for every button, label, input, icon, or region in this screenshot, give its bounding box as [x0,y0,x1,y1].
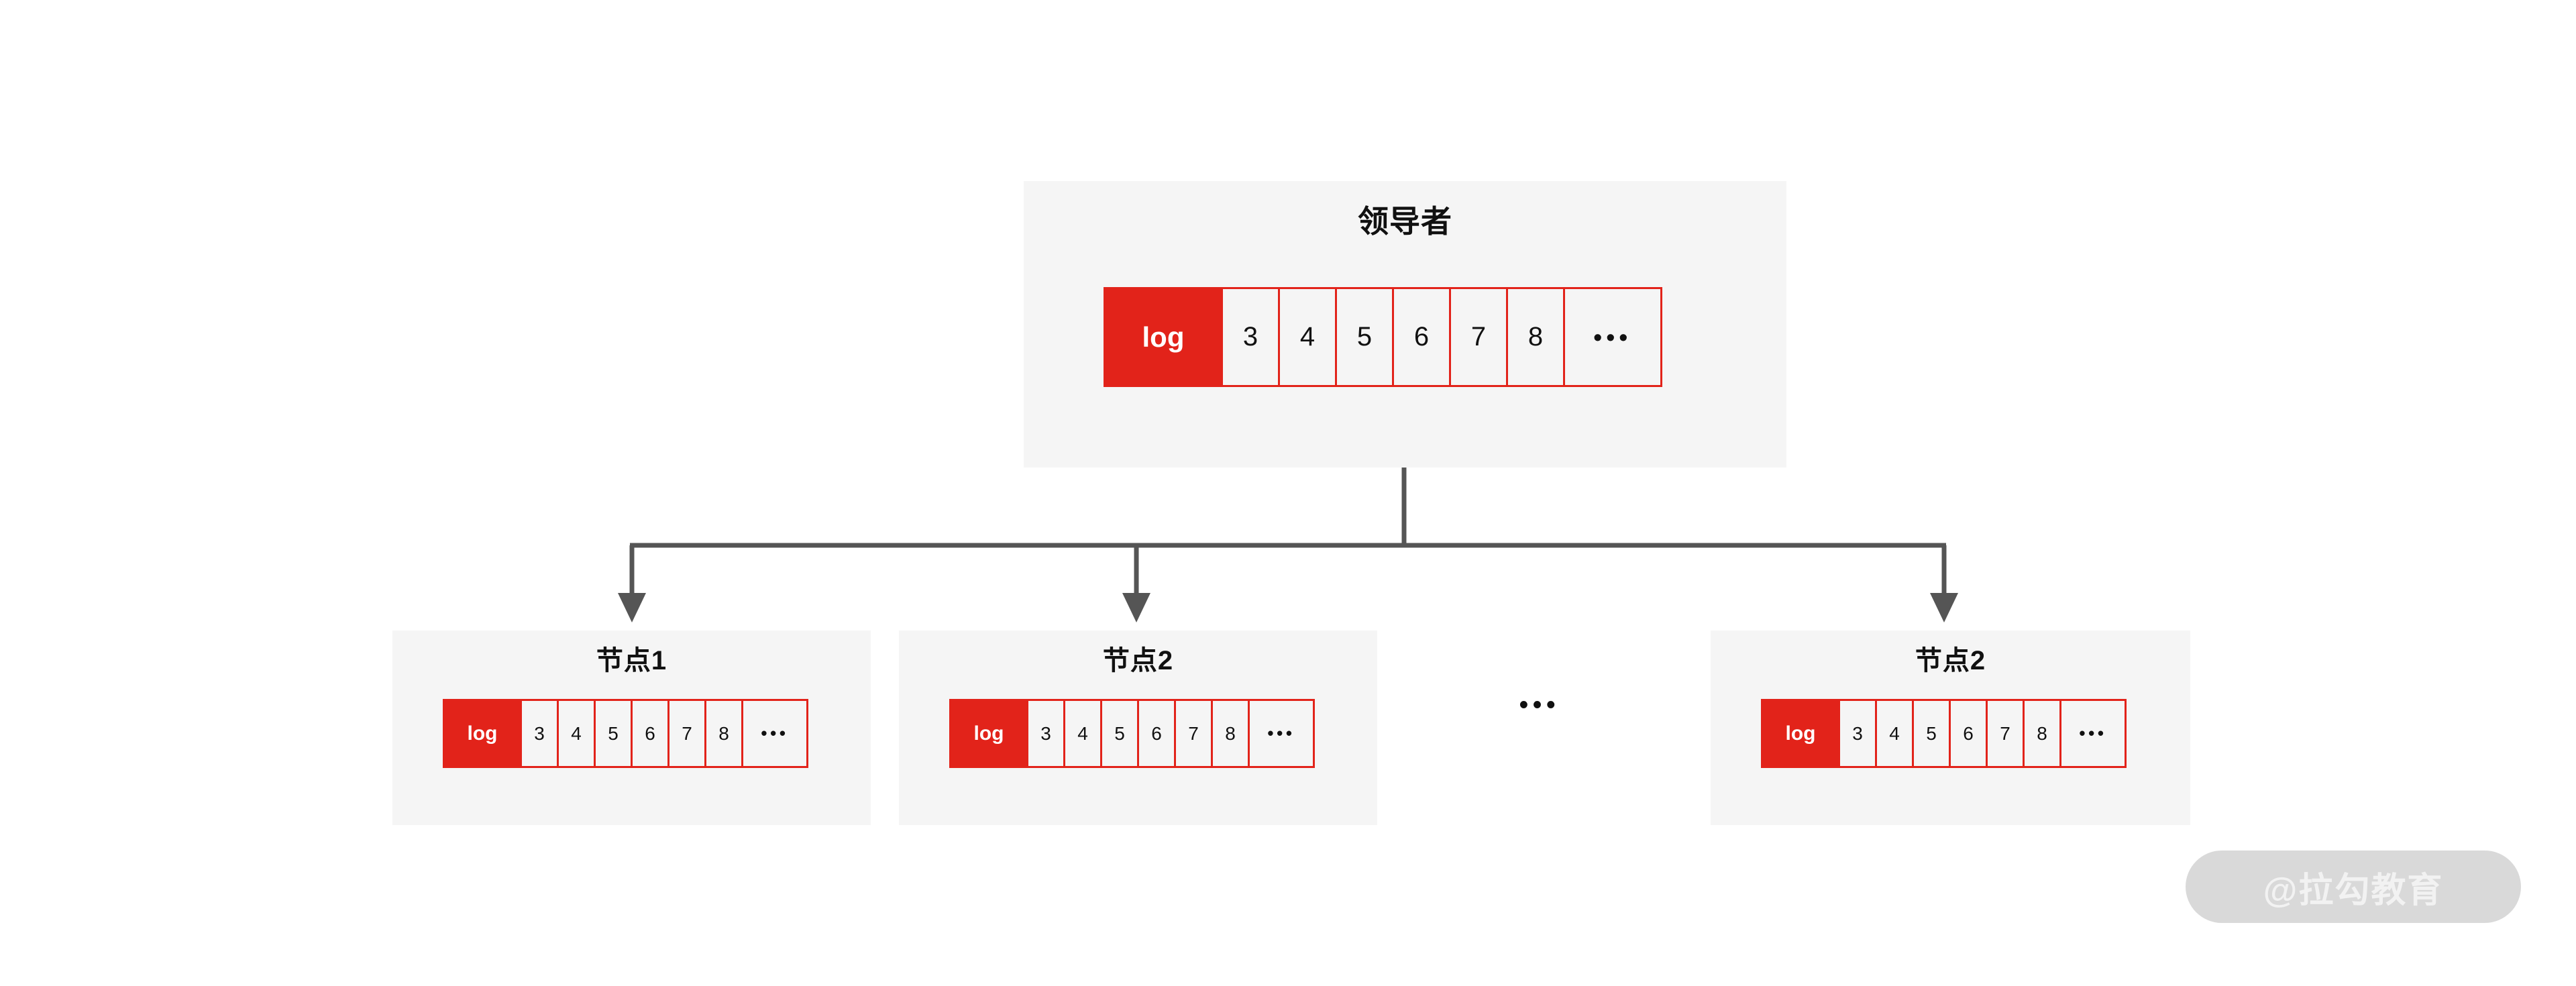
node-entry-cell: 7 [1174,699,1213,768]
leader-entry-cell: 3 [1221,287,1280,387]
node-entry-cell: 5 [1912,699,1951,768]
leader-entry-cell: 4 [1278,287,1337,387]
leader-entry-cell: 7 [1449,287,1508,387]
group-ellipsis: ••• [1509,691,1570,720]
leader-overflow-cell: ••• [1563,287,1662,387]
node-entry-cell: 5 [1100,699,1139,768]
node-entry-cell: 6 [1949,699,1988,768]
node-entry-cell: 4 [557,699,596,768]
node-panel-1: 节点1 log 3 4 5 6 7 8 ••• [392,631,871,825]
arrowhead-node-3 [1930,593,1958,622]
leader-title: 领导者 [1024,203,1786,240]
watermark-badge: @拉勾教育 [2186,851,2521,923]
watermark-text: @拉勾教育 [2263,862,2444,912]
node-entry-cell: 4 [1063,699,1102,768]
node-log-row: log 3 4 5 6 7 8 ••• [1761,699,2127,768]
node-entry-cell: 3 [1838,699,1877,768]
node-entry-cell: 8 [704,699,743,768]
node-entry-cell: 7 [667,699,706,768]
diagram-canvas: 领导者 log 3 4 5 6 7 8 ••• 节点1 log 3 4 5 6 … [0,0,2576,986]
node-entry-cell: 5 [594,699,633,768]
node-panel-3: 节点2 log 3 4 5 6 7 8 ••• [1711,631,2190,825]
node-entry-cell: 8 [2023,699,2061,768]
node-log-cell: log [949,699,1028,768]
leader-entry-cell: 6 [1392,287,1451,387]
connector-lines [0,0,2576,986]
leader-panel: 领导者 log 3 4 5 6 7 8 ••• [1024,181,1786,468]
node-entry-cell: 4 [1875,699,1914,768]
node-overflow-cell: ••• [1248,699,1315,768]
leader-log-row: log 3 4 5 6 7 8 ••• [1104,287,1662,387]
leader-log-cell: log [1104,287,1223,387]
leader-entry-cell: 8 [1506,287,1565,387]
leader-entry-cell: 5 [1335,287,1394,387]
node-overflow-cell: ••• [741,699,808,768]
node-entry-cell: 8 [1211,699,1250,768]
node-log-cell: log [1761,699,1840,768]
node-entry-cell: 6 [631,699,669,768]
node-title: 节点1 [392,644,871,677]
node-entry-cell: 7 [1986,699,2025,768]
node-title: 节点2 [1711,644,2190,677]
arrowhead-node-1 [618,593,646,622]
arrowhead-node-2 [1122,593,1150,622]
node-title: 节点2 [899,644,1377,677]
node-overflow-cell: ••• [2059,699,2127,768]
node-entry-cell: 3 [1026,699,1065,768]
node-entry-cell: 3 [520,699,559,768]
node-entry-cell: 6 [1137,699,1176,768]
node-log-row: log 3 4 5 6 7 8 ••• [949,699,1315,768]
node-log-cell: log [443,699,522,768]
node-log-row: log 3 4 5 6 7 8 ••• [443,699,808,768]
node-panel-2: 节点2 log 3 4 5 6 7 8 ••• [899,631,1377,825]
